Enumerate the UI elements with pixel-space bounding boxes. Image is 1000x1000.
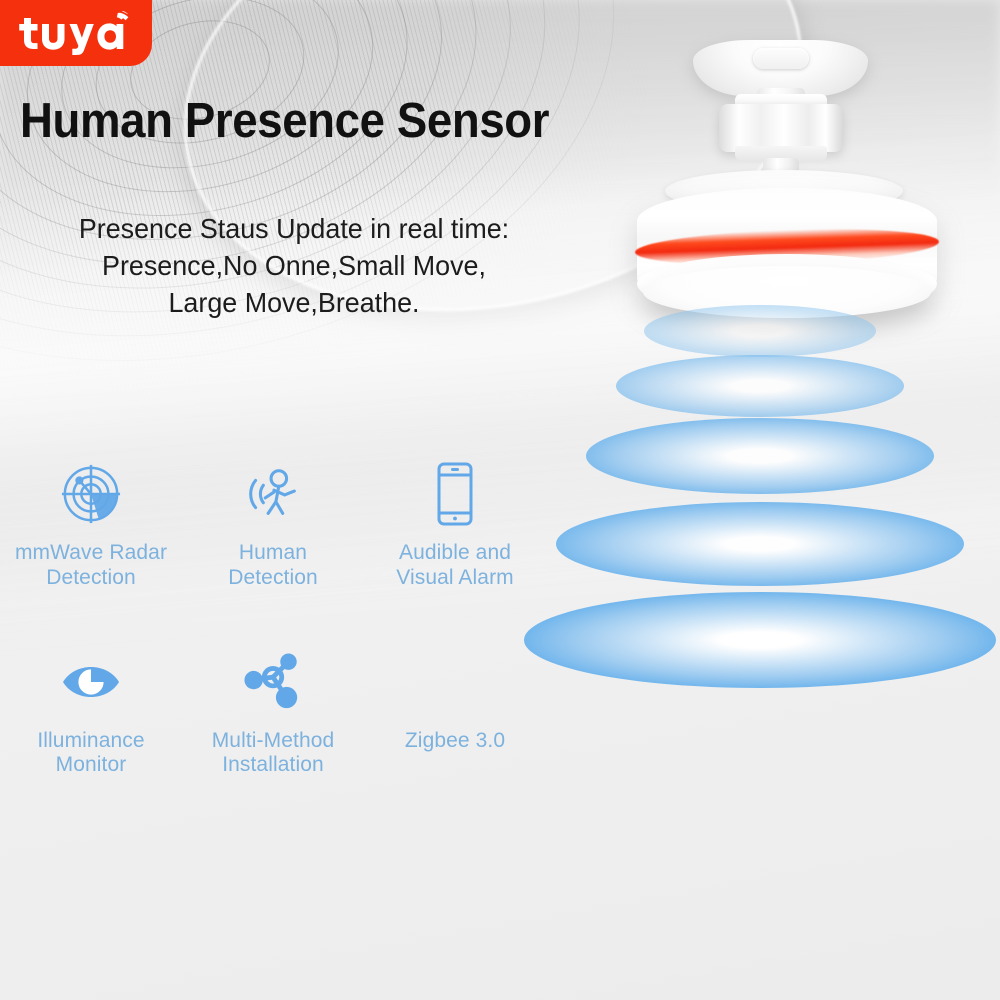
product-marketing-banner: Human Presence Sensor Presence Staus Upd… bbox=[0, 0, 1000, 1000]
subtitle-line-1: Presence Staus Update in real time: bbox=[54, 210, 534, 247]
feature-mmwave-radar: mmWave Radar Detection bbox=[0, 455, 182, 591]
feature-label-line2: Detection bbox=[46, 566, 136, 589]
mount-hex-nut bbox=[719, 104, 843, 152]
mount-slot bbox=[753, 48, 809, 69]
subtitle-line-2: Presence,No Onne,Small Move, bbox=[54, 247, 534, 284]
detection-wave-3 bbox=[586, 418, 934, 494]
feature-label: Human Detection bbox=[228, 541, 318, 591]
node-network-icon bbox=[242, 643, 304, 721]
feature-illuminance-monitor: Illuminance Monitor bbox=[0, 643, 182, 779]
detection-wave-1 bbox=[644, 305, 876, 357]
eye-clock-icon bbox=[59, 643, 123, 721]
tuya-logo bbox=[0, 0, 152, 66]
feature-label: Multi-Method Installation bbox=[212, 729, 335, 779]
feature-label: mmWave Radar Detection bbox=[15, 541, 167, 591]
subtitle-line-3: Large Move,Breathe. bbox=[54, 284, 534, 321]
tuya-wordmark-icon bbox=[17, 11, 135, 55]
zigbee-icon-placeholder bbox=[455, 643, 456, 721]
feature-label-line1: Illuminance bbox=[37, 729, 144, 752]
feature-label: Zigbee 3.0 bbox=[405, 729, 505, 754]
feature-label-line2: Installation bbox=[222, 753, 324, 776]
radar-icon bbox=[60, 455, 122, 533]
feature-label-line2: Detection bbox=[228, 566, 318, 589]
feature-label-line1: Audible and bbox=[399, 541, 511, 564]
walking-person-icon bbox=[242, 455, 304, 533]
feature-zigbee: Zigbee 3.0 bbox=[364, 643, 546, 779]
feature-label-line1: Human bbox=[239, 541, 307, 564]
detection-wave-4 bbox=[556, 502, 964, 586]
product-device-image bbox=[585, 18, 1000, 318]
feature-row-1: mmWave Radar Detection bbox=[0, 455, 560, 591]
page-title: Human Presence Sensor bbox=[20, 97, 549, 146]
feature-label-line1: mmWave Radar bbox=[15, 541, 167, 564]
feature-audible-visual-alarm: Audible and Visual Alarm bbox=[364, 455, 546, 591]
detection-wave-cone bbox=[520, 300, 1000, 700]
detection-wave-5 bbox=[524, 592, 996, 688]
feature-label-line1: Multi-Method bbox=[212, 729, 335, 752]
feature-human-detection: Human Detection bbox=[182, 455, 364, 591]
feature-label: Illuminance Monitor bbox=[37, 729, 144, 779]
smartphone-icon bbox=[433, 455, 477, 533]
feature-grid: mmWave Radar Detection bbox=[0, 455, 560, 778]
feature-row-2: Illuminance Monitor bbox=[0, 643, 560, 779]
subtitle-block: Presence Staus Update in real time: Pres… bbox=[54, 210, 534, 322]
feature-label: Audible and Visual Alarm bbox=[396, 541, 514, 591]
feature-label-line2: Monitor bbox=[56, 753, 127, 776]
feature-multi-method-installation: Multi-Method Installation bbox=[182, 643, 364, 779]
feature-label-line1: Zigbee 3.0 bbox=[405, 729, 505, 752]
detection-wave-2 bbox=[616, 355, 904, 417]
feature-label-line2: Visual Alarm bbox=[396, 566, 514, 589]
